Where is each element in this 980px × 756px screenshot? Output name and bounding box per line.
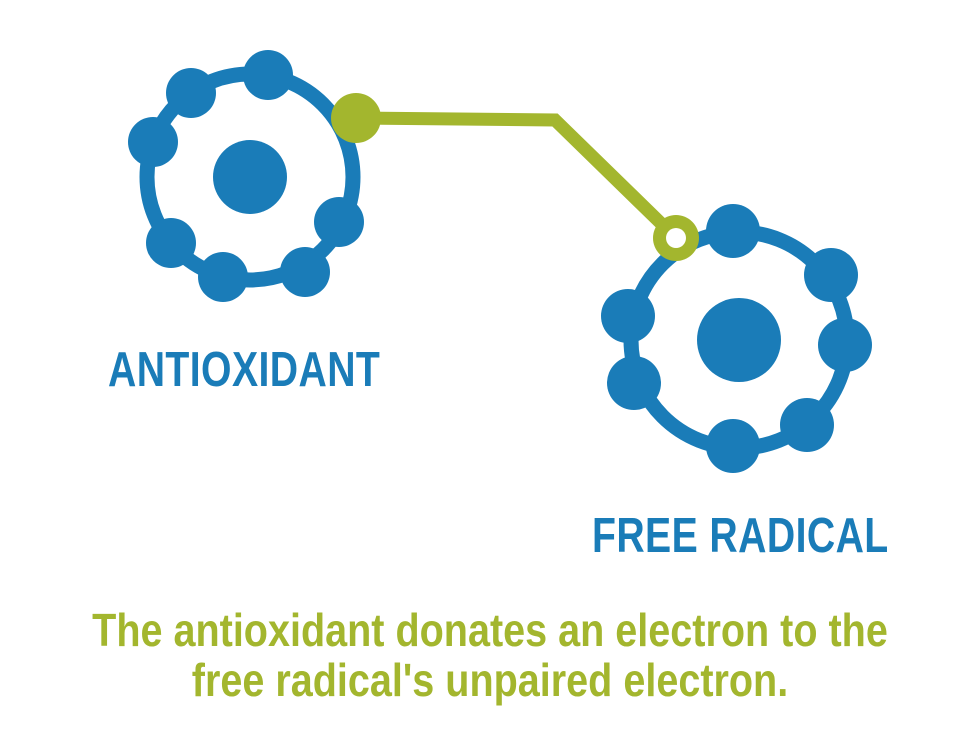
electron-e3 [128, 117, 178, 167]
electron-e1 [166, 68, 216, 118]
electron-r2 [804, 248, 858, 302]
donated-electron-overlay [331, 93, 381, 143]
electron-e6 [280, 247, 330, 297]
caption-line-1: The antioxidant donates an electron to t… [69, 605, 912, 655]
unpaired-electron-slot-icon [653, 215, 699, 261]
electron-e7 [314, 197, 364, 247]
antioxidant-nucleus [213, 140, 287, 214]
electron-r5 [706, 419, 760, 473]
atom-label-free-radical: FREE RADICAL [592, 512, 889, 561]
caption-line-2: free radical's unpaired electron. [69, 655, 912, 705]
electron-r1 [706, 204, 760, 258]
electron-r4 [780, 398, 834, 452]
unpaired-slot-hole [666, 228, 686, 248]
caption-text: The antioxidant donates an electron to t… [0, 605, 980, 705]
electron-transfer-path [356, 118, 676, 238]
electron-r3 [818, 318, 872, 372]
atom-free-radical [601, 204, 872, 473]
atom-label-antioxidant: ANTIOXIDANT [108, 346, 380, 395]
electron-e5 [198, 252, 248, 302]
atom-antioxidant [128, 50, 364, 302]
electron-e2 [243, 50, 293, 100]
diagram-canvas: ANTIOXIDANT FREE RADICAL The antioxidant… [0, 0, 980, 756]
electron-r7 [601, 289, 655, 343]
electron-r6 [607, 356, 661, 410]
donated-electron [331, 93, 381, 143]
free-radical-nucleus [697, 298, 781, 382]
electron-e4 [146, 218, 196, 268]
